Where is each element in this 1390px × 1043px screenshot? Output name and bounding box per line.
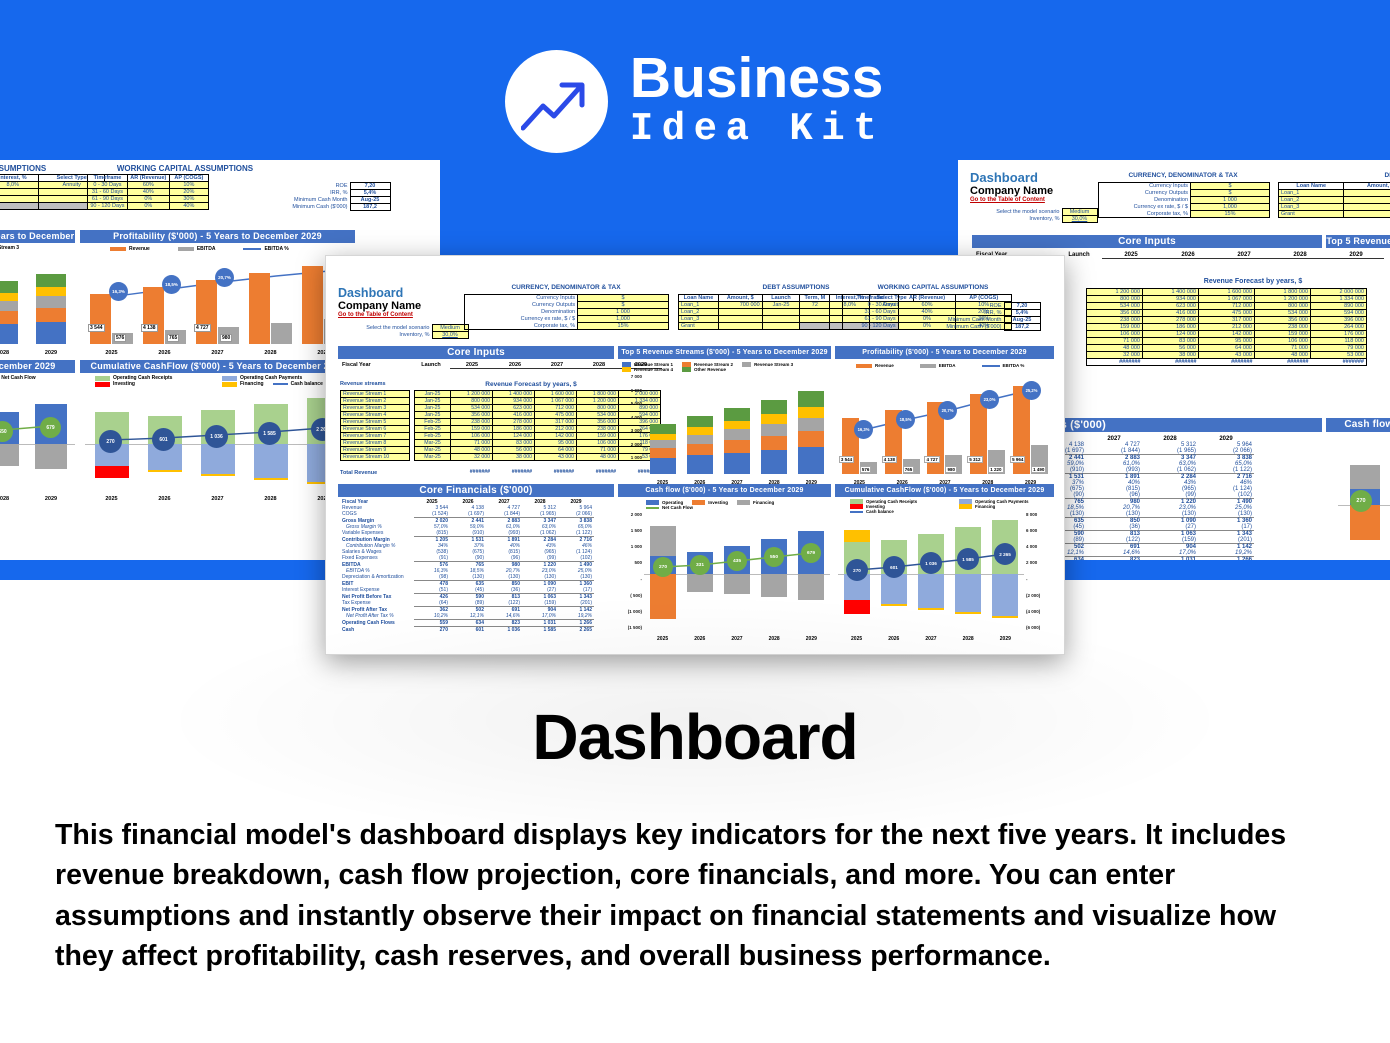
forecast-cell[interactable]: 1 600 000 [535, 391, 577, 398]
revenue-stream-name[interactable]: Revenue Stream 9 [341, 447, 410, 454]
ebitda-pct-bubble: 20,7% [215, 268, 234, 287]
forecast-cell[interactable]: 416 000 [1143, 310, 1199, 317]
forecast-cell[interactable]: 48 000 [577, 454, 619, 461]
forecast-cell[interactable]: 623 000 [493, 405, 535, 412]
cell-loan[interactable]: Loan_2 [1279, 197, 1344, 204]
axis-tick: 2028 [0, 350, 9, 356]
bar-label: 980 [220, 334, 232, 342]
forecast-cell[interactable]: 1 400 000 [493, 391, 535, 398]
ebitda-pct-bubble: 16,3% [109, 282, 128, 301]
brand-name-primary: Business [630, 50, 885, 107]
axis-tick: 4 000 [618, 415, 642, 420]
table-row[interactable]: Revenue Stream 1 [341, 391, 410, 398]
forecast-cell[interactable]: 124 000 [493, 433, 535, 440]
cell-label: Denomination [1099, 197, 1191, 204]
kpi-value: 5,4% [350, 190, 390, 197]
forecast-cell[interactable]: 124 000 [1143, 331, 1199, 338]
table-row[interactable]: Revenue Stream 8 [341, 440, 410, 447]
legend-label: Revenue Stream 4 [634, 367, 673, 372]
forecast-cell[interactable]: 1 200 000 [451, 391, 493, 398]
value-cell: 2 265 [558, 627, 594, 634]
table-row[interactable]: 1 200 0001 400 0001 600 0001 800 0002 00… [1087, 289, 1367, 296]
forecast-cell[interactable]: 534 000 [577, 412, 619, 419]
value-cell: 823 [486, 620, 522, 627]
cell-value[interactable]: $ [578, 302, 669, 309]
forecast-cell[interactable]: 1 067 000 [535, 398, 577, 405]
legend-label: Net Cash Flow [662, 505, 693, 510]
kpi-value: 7,20 [350, 183, 390, 190]
cell-loan[interactable]: Grant [679, 323, 719, 330]
forecast-cell[interactable]: 1 400 000 [1143, 289, 1199, 296]
toc-link-right[interactable]: Go to the Table of Content [970, 197, 1053, 203]
forecast-cell[interactable]: 800 000 [1255, 303, 1311, 310]
forecast-cell[interactable]: 38 000 [1143, 352, 1199, 359]
revenue-stream-name[interactable]: Revenue Stream 8 [341, 440, 410, 447]
axis-tick: 2029 [806, 636, 817, 642]
forecast-cell[interactable]: 623 000 [1143, 303, 1199, 310]
cash-balance-bubble: 2 265 [994, 543, 1016, 565]
forecast-cell[interactable]: 106 000 [577, 440, 619, 447]
table-header-row: Fiscal Year Launch 2025 2026 2027 2028 2… [340, 362, 662, 369]
cell-term[interactable]: 72 [800, 302, 830, 309]
forecast-cell[interactable]: 159 000 [1255, 331, 1311, 338]
table-row[interactable]: Currency Outputs$ [465, 302, 669, 309]
forecast-cell[interactable]: 118 000 [1311, 338, 1367, 345]
launch-cell[interactable]: Jan-25 [415, 398, 451, 405]
cell-value[interactable]: $ [578, 295, 669, 302]
axis-tick: 2028 [769, 636, 780, 642]
table-row[interactable]: 800 000934 0001 067 0001 200 0001 334 00… [1087, 296, 1367, 303]
launch-cell[interactable]: Mar-25 [415, 454, 451, 461]
revenue-stream-name[interactable]: Revenue Stream 2 [341, 398, 410, 405]
table-row[interactable]: Revenue Stream 6 [341, 426, 410, 433]
table-row[interactable]: 48 00056 00064 00071 00079 000 [1087, 345, 1367, 352]
forecast-cell[interactable]: 32 000 [451, 454, 493, 461]
forecast-cell[interactable]: 534 000 [1255, 310, 1311, 317]
axis-tick: 1 500 [614, 528, 642, 533]
chart-title-cumulative-left: Cumulative CashFlow ($'000) - 5 Years to… [80, 360, 355, 373]
forecast-cell[interactable]: 83 000 [493, 440, 535, 447]
axis-tick: - [1026, 577, 1054, 582]
launch-cell[interactable]: Feb-25 [415, 433, 451, 440]
legend-label: Revenue Stream 3 [0, 245, 19, 251]
inventory-row[interactable]: Inventory, %30,0% [974, 216, 1097, 223]
scenario-row[interactable]: Select the model scenarioMedium [346, 325, 468, 332]
forecast-cell[interactable]: 53 000 [1311, 352, 1367, 359]
forecast-cell[interactable]: 238 000 [1255, 324, 1311, 331]
revenue-stream-name[interactable]: Revenue Stream 3 [341, 405, 410, 412]
kpi-label: IRR, % [926, 310, 1004, 317]
revenue-stream-name[interactable]: Revenue Stream 10 [341, 454, 410, 461]
forecast-cell[interactable]: 79 000 [1311, 345, 1367, 352]
forecast-cell[interactable]: 238 000 [451, 419, 493, 426]
legend-label: Revenue Stream 3 [754, 362, 793, 367]
legend-item: Revenue [856, 363, 894, 368]
forecast-cell[interactable]: 56 000 [1143, 345, 1199, 352]
legend-item: Cash balance [273, 381, 323, 387]
forecast-cell[interactable]: 238 000 [577, 426, 619, 433]
cell-ar[interactable]: 40% [127, 189, 169, 196]
table-row[interactable]: Revenue Stream 9 [341, 447, 410, 454]
table-row: Cash2706011 0361 5852 265 [340, 627, 594, 634]
axis-tick: 2026 [694, 636, 705, 642]
cell-loan[interactable]: Loan_1 [679, 302, 719, 309]
forecast-cell[interactable]: 159 000 [577, 433, 619, 440]
forecast-cell[interactable]: 186 000 [1143, 324, 1199, 331]
bar-label: 5 964 [1010, 456, 1025, 463]
th-amount: Amount, $ [718, 295, 762, 302]
cell-launch[interactable]: Jan-25 [762, 302, 800, 309]
table-row[interactable]: Revenue Stream 10 [341, 454, 410, 461]
spreadsheet-screenshot-main[interactable]: Dashboard Company Name Go to the Table o… [325, 255, 1065, 655]
th-year: 2027 [536, 362, 578, 369]
forecast-cell[interactable]: 800 000 [451, 398, 493, 405]
cell-value[interactable]: 15% [578, 323, 669, 330]
forecast-cell[interactable]: 534 000 [1087, 303, 1143, 310]
forecast-cell[interactable]: 95 000 [1199, 338, 1255, 345]
table-row[interactable]: Grant [1279, 211, 1390, 218]
forecast-cell[interactable]: 534 000 [451, 405, 493, 412]
scenario-value[interactable]: Medium [432, 325, 468, 332]
bar-label: 4 727 [924, 456, 939, 463]
th-timeframe: Timeframe [843, 295, 899, 302]
forecast-cell[interactable]: 186 000 [493, 426, 535, 433]
table-row[interactable]: Currency Outputs$ [1099, 190, 1270, 197]
legend-label: Cash balance [291, 381, 323, 387]
total-revenue-label: Total Revenue [340, 470, 377, 476]
table-row[interactable]: Revenue Stream 4 [341, 412, 410, 419]
forecast-cell[interactable]: 1 600 000 [1199, 289, 1255, 296]
revenue-stream-name[interactable]: Revenue Stream 5 [341, 419, 410, 426]
scenario-value[interactable]: Medium [1062, 209, 1097, 216]
chart-title-cashflow-left: Cash flow ($'000) - 5 Years to December … [0, 360, 75, 373]
bar-label: 765 [167, 334, 179, 342]
cell-ap[interactable]: 20% [169, 189, 208, 196]
forecast-cell[interactable]: 1 800 000 [577, 391, 619, 398]
total-cell: ####### [534, 469, 576, 475]
cell-timeframe: 61 - 90 Days [843, 316, 899, 323]
axis-tick: 2025 [657, 636, 668, 642]
table-row[interactable]: Loan_2 [1279, 197, 1390, 204]
value-cell: 634 [450, 620, 486, 627]
forecast-cell[interactable]: 71 000 [577, 447, 619, 454]
forecast-cell[interactable]: 1 334 000 [1311, 296, 1367, 303]
forecast-cell[interactable]: 712 000 [535, 405, 577, 412]
row-label: Cash [340, 627, 414, 634]
forecast-cell[interactable]: 356 000 [451, 412, 493, 419]
legend-item: Financing [737, 500, 774, 505]
cell-value[interactable]: 1,000 [578, 316, 669, 323]
forecast-cell[interactable]: 1 200 000 [577, 398, 619, 405]
inventory-value[interactable]: 30,0% [432, 332, 468, 339]
table-row[interactable]: Corporate tax, %15% [465, 323, 669, 330]
currency-title: CURRENCY, DENOMINATOR & TAX [456, 284, 676, 291]
table-row[interactable]: Revenue Stream 3 [341, 405, 410, 412]
cell-amount[interactable]: 700 000 [1344, 190, 1390, 197]
bar-label: 980 [945, 466, 957, 473]
axis-tick: 2026 [158, 350, 170, 356]
kpi-row: Minimum Cash ($'000)187,2 [926, 324, 1040, 331]
forecast-cell[interactable]: 43 000 [535, 454, 577, 461]
forecast-cell[interactable]: 83 000 [1143, 338, 1199, 345]
total-cell: ####### [576, 469, 618, 475]
legend-label: EBITDA [197, 246, 216, 252]
bar-label: 3 544 [88, 324, 105, 332]
cell-ar[interactable]: 0% [127, 196, 169, 203]
forecast-cell[interactable]: 712 000 [1199, 303, 1255, 310]
table-row[interactable]: Currency Inputs$ [1099, 183, 1270, 190]
table-row[interactable]: Currency Inputs$ [465, 295, 669, 302]
table-row[interactable]: 356 000416 000475 000534 000594 000 [1087, 310, 1367, 317]
currency-title-right: CURRENCY, DENOMINATOR & TAX [1093, 172, 1273, 179]
launch-cell[interactable]: Mar-25 [415, 447, 451, 454]
table-row[interactable]: 0 - 30 Days60%10% [88, 182, 209, 189]
forecast-cell[interactable]: 317 000 [535, 419, 577, 426]
cell-loan[interactable]: Loan_2 [679, 309, 719, 316]
legend-label: Financing [240, 381, 264, 387]
forecast-cell[interactable]: 71 000 [1087, 338, 1143, 345]
forecast-cell[interactable]: 356 000 [1087, 310, 1143, 317]
table-row[interactable]: 159 000186 000212 000238 000264 000 [1087, 324, 1367, 331]
chart-profitability: 3 544576 4 138765 4 727980 5 3121 220 5 … [838, 374, 1052, 486]
cell-value[interactable]: $ [1191, 183, 1270, 190]
table-row[interactable]: Revenue Stream 7 [341, 433, 410, 440]
forecast-cell[interactable]: 264 000 [1311, 324, 1367, 331]
th-year: 2028 [578, 362, 620, 369]
kpi-label: ROE [926, 303, 1004, 310]
table-row[interactable]: 32 00038 00043 00048 00053 000 [1087, 352, 1367, 359]
cell-ap[interactable]: 30% [169, 196, 208, 203]
forecast-cell[interactable]: 2 000 000 [1311, 289, 1367, 296]
axis-tick: - [618, 469, 642, 474]
th-year: 2025 [450, 362, 494, 369]
axis-tick: 7 000 [618, 374, 642, 379]
axis-tick: 2029 [45, 496, 57, 502]
cell-timeframe[interactable]: 61 - 90 Days [88, 196, 128, 203]
forecast-cell[interactable]: 64 000 [1199, 345, 1255, 352]
inventory-row[interactable]: Inventory, %30,0% [346, 332, 468, 339]
legend-item: EBITDA % [982, 363, 1025, 368]
launch-cell[interactable]: Feb-25 [415, 426, 451, 433]
th-year: 2027 [1216, 252, 1272, 259]
table-header-row: Timeframe AR (Revenue) AP (COGS) [88, 175, 209, 182]
forecast-cell[interactable]: 317 000 [1199, 317, 1255, 324]
legend-label: Investing [113, 381, 135, 387]
revenue-forecast-title: Revenue Forecast by years, $ [446, 381, 616, 388]
launch-cell[interactable]: Feb-25 [415, 419, 451, 426]
cell-timeframe[interactable]: 0 - 30 Days [88, 182, 128, 189]
revenue-stream-name[interactable]: Revenue Stream 7 [341, 433, 410, 440]
table-row[interactable]: Loan_3 [1279, 204, 1390, 211]
table-row[interactable]: Denomination1 000 [1099, 197, 1270, 204]
cell-ar[interactable]: 0% [127, 203, 169, 210]
revenue-stream-name[interactable]: Revenue Stream 1 [341, 391, 410, 398]
cell-amount[interactable]: 700 000 [718, 302, 762, 309]
cell-label: Currency Inputs [465, 295, 578, 302]
forecast-cell[interactable]: 95 000 [535, 440, 577, 447]
table-row[interactable]: 61 - 90 Days0%30% [88, 196, 209, 203]
cell-ap[interactable]: 40% [169, 203, 208, 210]
axis-tick: 2 000 [614, 512, 642, 517]
table-row[interactable]: 106 000124 000142 000159 000176 000 [1087, 331, 1367, 338]
table-row[interactable]: Revenue Stream 5 [341, 419, 410, 426]
value-cell: 1 266 [1198, 557, 1254, 561]
toc-link[interactable]: Go to the Table of Content [338, 312, 421, 318]
table-header-row: Timeframe AR (Revenue) AP (COGS) [843, 295, 1012, 302]
cash-balance-bubble: 270 [99, 430, 122, 453]
forecast-cell[interactable]: 396 000 [1311, 317, 1367, 324]
ebitda-pct-bubble: 18,5% [162, 275, 181, 294]
forecast-cell[interactable]: 56 000 [493, 447, 535, 454]
forecast-cell[interactable]: 159 000 [451, 426, 493, 433]
forecast-cell[interactable]: 48 000 [1255, 352, 1311, 359]
cell-timeframe[interactable]: 90 - 120 Days [88, 203, 128, 210]
brand-name-secondary: Idea Kit [630, 107, 885, 152]
table-row[interactable]: 238 000278 000317 000356 000396 000 [1087, 317, 1367, 324]
forecast-cell[interactable]: 32 000 [1087, 352, 1143, 359]
cash-balance-bubble: 1 036 [920, 552, 942, 574]
logo: Business Idea Kit [0, 42, 1390, 160]
forecast-cell[interactable]: 800 000 [577, 405, 619, 412]
cell-value[interactable]: 15% [1191, 211, 1270, 218]
cell-ap[interactable]: 10% [169, 182, 208, 189]
th-launch: Launch [412, 362, 450, 369]
forecast-cell[interactable]: 48 000 [451, 447, 493, 454]
forecast-cell[interactable]: 48 000 [1087, 345, 1143, 352]
forecast-cell[interactable]: 278 000 [1143, 317, 1199, 324]
cell-value[interactable]: 1,000 [1191, 204, 1270, 211]
kpi-value: Aug-25 [350, 197, 390, 204]
forecast-cell[interactable]: 475 000 [535, 412, 577, 419]
table-row[interactable]: 90 - 120 Days0%40% [88, 203, 209, 210]
forecast-cell[interactable]: 1 200 000 [1255, 296, 1311, 303]
launch-cell[interactable]: Mar-25 [415, 440, 451, 447]
cell-loan[interactable]: Loan_3 [1279, 204, 1344, 211]
total-row: ################################### [1087, 359, 1367, 366]
table-row[interactable]: 71 00083 00095 000106 000118 000 [1087, 338, 1367, 345]
cell-value[interactable]: 1 000 [578, 309, 669, 316]
forecast-cell[interactable]: 38 000 [493, 454, 535, 461]
forecast-cell[interactable]: 71 000 [451, 440, 493, 447]
legend-label: EBITDA % [1003, 363, 1025, 368]
inventory-label: Inventory, % [974, 216, 1062, 223]
launch-cell[interactable]: Jan-25 [415, 412, 451, 419]
chart-profitability-left: 3 544576 4 138765 4 727980 16,3% 18,5% 2… [85, 258, 350, 356]
launch-cell[interactable]: Jan-25 [415, 405, 451, 412]
forecast-cell[interactable]: 356 000 [577, 419, 619, 426]
bar-label: 576 [114, 334, 126, 342]
axis-tick: 2026 [158, 496, 170, 502]
cell-loan[interactable]: Loan_1 [1279, 190, 1344, 197]
table-row[interactable]: Loan_1700 000Jan-25 [1279, 190, 1390, 197]
chart-title-cumulative: Cumulative CashFlow ($'000) - 5 Years to… [835, 484, 1054, 497]
forecast-cell[interactable]: 934 000 [1143, 296, 1199, 303]
value-cell: 270 [414, 627, 450, 634]
cell-timeframe[interactable]: 31 - 60 Days [88, 189, 128, 196]
forecast-cell[interactable]: 212 000 [535, 426, 577, 433]
inventory-label: Inventory, % [346, 332, 432, 339]
dashboard-heading-right: Dashboard [970, 170, 1053, 185]
table-row[interactable]: Currency ex rate, $ / $1,000 [1099, 204, 1270, 211]
cell-loan[interactable]: Grant [1279, 211, 1344, 218]
revenue-stream-name[interactable]: Revenue Stream 4 [341, 412, 410, 419]
cell-value[interactable]: 1 000 [1191, 197, 1270, 204]
forecast-cell[interactable]: 176 000 [1311, 331, 1367, 338]
forecast-cell[interactable]: 594 000 [1311, 310, 1367, 317]
forecast-cell[interactable]: 934 000 [493, 398, 535, 405]
revenue-stream-name[interactable]: Revenue Stream 6 [341, 426, 410, 433]
table-row[interactable]: Revenue Stream 2 [341, 398, 410, 405]
value-cell: 1 266 [558, 620, 594, 627]
legend-label: Investing [708, 500, 728, 505]
ebitda-pct-bubble: 23,0% [980, 390, 999, 409]
forecast-cell[interactable]: 238 000 [1087, 317, 1143, 324]
net-cash-bubble: 679 [40, 417, 61, 438]
axis-tick: 5 000 [618, 401, 642, 406]
forecast-cell[interactable]: 64 000 [535, 447, 577, 454]
cell-ar[interactable]: 60% [127, 182, 169, 189]
axis-tick: 2027 [211, 496, 223, 502]
chart-cashflow: 270 331 435 550 679 2025 2026 2027 2028 … [644, 512, 830, 642]
table-row[interactable]: 31 - 60 Days40%20% [88, 189, 209, 196]
forecast-cell[interactable]: 800 000 [1087, 296, 1143, 303]
launch-cell[interactable]: Jan-25 [415, 391, 451, 398]
cell-value[interactable]: $ [1191, 190, 1270, 197]
th-loan-name: Loan Name [679, 295, 719, 302]
forecast-cell[interactable]: 212 000 [1199, 324, 1255, 331]
forecast-cell[interactable]: 106 000 [1087, 331, 1143, 338]
inventory-value[interactable]: 30,0% [1062, 216, 1097, 223]
forecast-cell[interactable]: 416 000 [493, 412, 535, 419]
th-ap: AP (COGS) [956, 295, 1012, 302]
scenario-row[interactable]: Select the model scenarioMedium [974, 209, 1097, 216]
th-interest: Interest, % [0, 175, 39, 182]
th-launch: Launch [762, 295, 800, 302]
cash-balance-bubble: 270 [846, 559, 868, 581]
forecast-cell[interactable]: 106 000 [1255, 338, 1311, 345]
axis-tick: 2 000 [1026, 560, 1054, 565]
forecast-cell[interactable]: 356 000 [1255, 317, 1311, 324]
th-year: 2026 [494, 362, 536, 369]
cell-loan[interactable]: Loan_3 [679, 316, 719, 323]
cell-interest[interactable]: 8,0% [0, 182, 39, 189]
value-cell: 601 [450, 627, 486, 634]
forecast-cell[interactable]: 278 000 [493, 419, 535, 426]
dashboard-heading: Dashboard [338, 286, 421, 300]
table-row[interactable]: Currency ex rate, $ / $1,000 [465, 316, 669, 323]
forecast-cell[interactable]: 71 000 [1255, 345, 1311, 352]
table-row[interactable]: 534 000623 000712 000800 000890 000 [1087, 303, 1367, 310]
forecast-cell[interactable]: 106 000 [451, 433, 493, 440]
forecast-cell[interactable]: 1 067 000 [1199, 296, 1255, 303]
forecast-cell[interactable]: 159 000 [1087, 324, 1143, 331]
forecast-cell[interactable]: 890 000 [1311, 303, 1367, 310]
forecast-cell[interactable]: 1 800 000 [1255, 289, 1311, 296]
chart-top5-left: 2025 2026 2027 2028 2029 [0, 258, 75, 356]
legend-item: Financing [959, 504, 995, 509]
forecast-cell[interactable]: 142 000 [1199, 331, 1255, 338]
forecast-cell[interactable]: 1 200 000 [1087, 289, 1143, 296]
th-timeframe: Timeframe [88, 175, 128, 182]
forecast-cell[interactable]: 475 000 [1199, 310, 1255, 317]
forecast-cell[interactable]: 142 000 [535, 433, 577, 440]
core-financials-title: Core Financials ($'000) [338, 484, 614, 497]
forecast-cell[interactable]: 43 000 [1199, 352, 1255, 359]
axis-tick: 2027 [925, 636, 936, 642]
axis-tick: 2 000 [618, 442, 642, 447]
table-row[interactable]: Corporate tax, %15% [1099, 211, 1270, 218]
table-row[interactable]: Denomination1 000 [465, 309, 669, 316]
